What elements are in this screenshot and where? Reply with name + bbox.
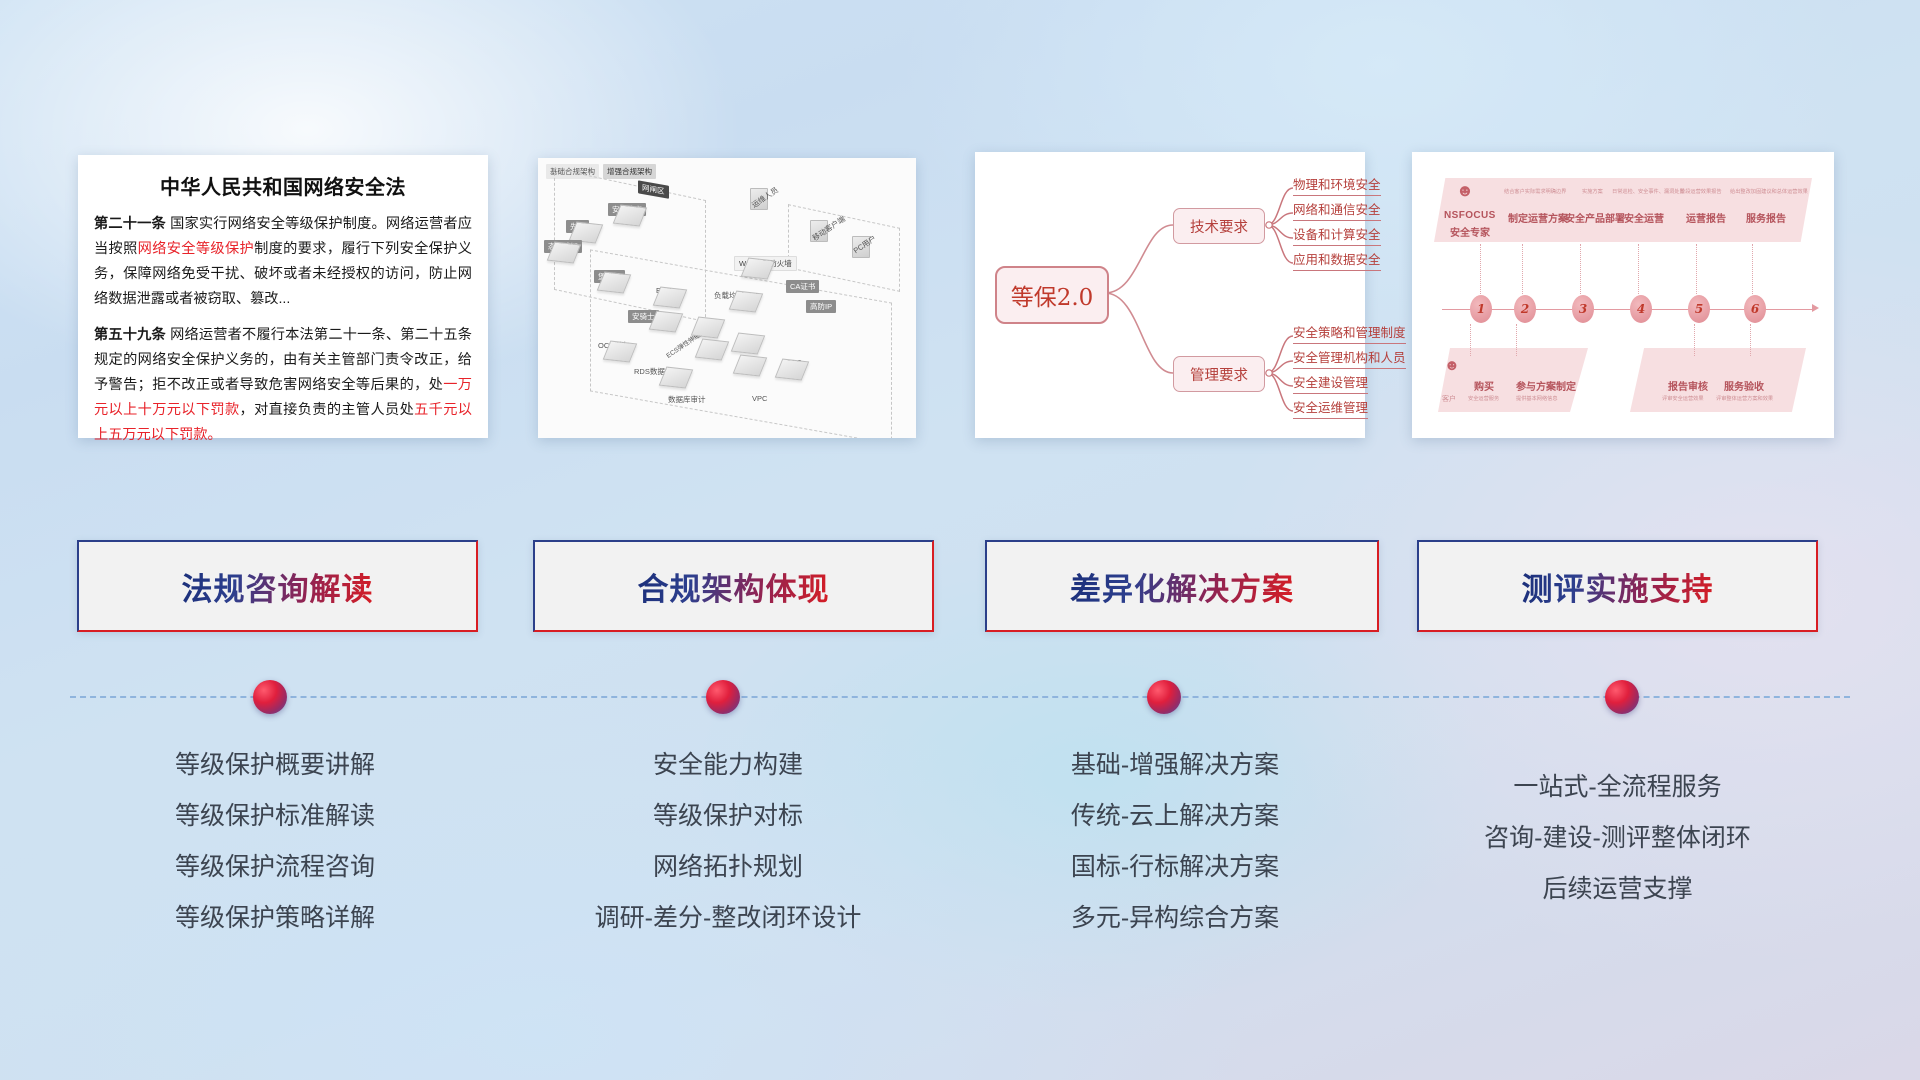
mindmap-branch-technical: 技术要求 [1173,208,1265,244]
timeline-connector-5 [1696,244,1698,294]
list-item: 基础-增强解决方案 [980,740,1370,791]
node-oss: OSS [786,358,806,379]
timeline-marker-4[interactable] [1605,680,1639,714]
mindmap-branch-management: 管理要求 [1173,356,1265,392]
mindmap-leaf-tech-2: 网络和通信安全 [1293,199,1381,221]
bottom-right-step-1-main: 报告审核 [1668,378,1708,393]
timeline-connector-8 [1516,324,1518,356]
list-item: 后续运营支撑 [1420,864,1815,915]
timeline-step-2[interactable]: 2 [1514,295,1536,323]
article-59-label: 第五十九条 [94,327,166,343]
mindmap-leaf-mgmt-1: 安全策略和管理制度 [1293,322,1406,344]
headline-row: 法规咨询解读 合规架构体现 差异化解决方案 测评实施支持 [0,540,1920,640]
list-item: 多元-异构综合方案 [980,893,1370,944]
detail-list-3: 基础-增强解决方案 传统-云上解决方案 国标-行标解决方案 多元-异构综合方案 [980,740,1370,944]
mindmap-leaf-tech-4: 应用和数据安全 [1293,249,1381,271]
mindmap-leaf-tech-1: 物理和环境安全 [1293,174,1381,196]
bottom-right-step-1-sub: 评审安全运营效果 [1662,395,1704,402]
node-anqishi: 安骑士 [628,310,680,331]
timeline-connector-2 [1522,244,1524,294]
node-vpc-label: VPC [752,394,767,403]
customer-person-icon: ☻ [1444,358,1460,373]
timeline-connector-6 [1752,244,1754,294]
tab-enhanced-architecture[interactable]: 增强合规架构 [603,164,656,179]
brand-name: NSFOCUS [1444,210,1496,221]
article-21-label: 第二十一条 [94,216,166,232]
service-timeline-card: ☻ NSFOCUS 安全专家 结合客户实际需求明确边界 制定运营方案 实施方案 … [1412,152,1834,438]
detail-column-3: 基础-增强解决方案 传统-云上解决方案 国标-行标解决方案 多元-异构综合方案 [980,740,1370,944]
node-xianzhi: 先知 [566,220,600,242]
law-article-59: 第五十九条 网络运营者不履行本法第二十一条、第二十五条规定的网络安全保护义务的，… [94,323,472,448]
timeline-connector-4 [1638,244,1640,294]
node-rds-icon [659,367,693,389]
list-item: 国标-行标解决方案 [980,842,1370,893]
timeline-connector-1 [1480,244,1482,294]
node-ocs-cache: OCS缓存 [598,340,634,361]
mindmap-leaf-mgmt-4: 安全运维管理 [1293,397,1368,419]
expert-person-icon: ☻ [1456,182,1474,199]
process-timeline [0,680,1920,720]
law-card-title: 中华人民共和国网络安全法 [78,171,488,200]
detail-list-2: 安全能力构建 等级保护对标 网络拓扑规划 调研-差分-整改闭环设计 [533,740,923,944]
node-situation-awareness-icon [547,242,581,264]
list-item: 等级保护概要讲解 [80,740,470,791]
timeline-step-4[interactable]: 4 [1630,295,1652,323]
timeline-arrow-icon [1812,304,1819,312]
timeline-marker-1[interactable] [253,680,287,714]
node-situation-awareness: 态势感知 [544,240,578,262]
node-ocs-cache-icon [603,341,637,363]
top-step-4-sub: 阶段运营效果报告 [1680,188,1722,195]
architecture-diagram: 基础合规架构 增强合规架构 网闸区 安全管家 先知 态势感知 [538,158,916,438]
timeline-step-1[interactable]: 1 [1470,295,1492,323]
list-item: 一站式-全流程服务 [1420,762,1815,813]
timeline-step-6[interactable]: 6 [1744,295,1766,323]
node-security-butler-icon [613,205,647,227]
list-item: 等级保护标准解读 [80,791,470,842]
bottom-left-step-2-sub: 提供基本网络信息 [1516,395,1558,402]
top-step-2-main: 安全产品部署 [1565,210,1625,225]
timeline-connector-3 [1580,244,1582,294]
detail-list-1: 等级保护概要讲解 等级保护标准解读 等级保护流程咨询 等级保护策略详解 [80,740,470,944]
top-step-3-main: 安全运营 [1624,210,1664,225]
mindmap-leaf-mgmt-3: 安全建设管理 [1293,372,1368,394]
law-card-body: 第二十一条 国家实行网络安全等级保护制度。网络运营者应当按照网络安全等级保护制度… [78,212,488,448]
node-anqishi-icon [649,311,683,333]
node-waf: Web应用防火墙 [734,256,772,278]
detail-columns: 等级保护概要讲解 等级保护标准解读 等级保护流程咨询 等级保护策略详解 安全能力… [0,740,1920,980]
headline-label-4: 测评实施支持 [1522,564,1714,609]
top-step-4-main: 运营报告 [1686,210,1726,225]
headline-box-assessment-support[interactable]: 测评实施支持 [1417,540,1818,632]
node-ecs-icon [653,287,687,309]
list-item: 等级保护流程咨询 [80,842,470,893]
list-item: 等级保护对标 [533,791,923,842]
mindmap-root-node: 等保2.0 [995,266,1109,324]
law-text-card: 中华人民共和国网络安全法 第二十一条 国家实行网络安全等级保护制度。网络运营者应… [78,155,488,438]
node-bastion-host-icon [597,272,631,294]
top-step-1-sub: 结合客户实际需求明确边界 [1504,188,1566,195]
list-item: 等级保护策略详解 [80,893,470,944]
top-step-5-sub: 给出整改加固建议和总体运营效果 [1730,188,1808,195]
headline-label-2: 合规架构体现 [638,564,830,609]
timeline-step-3[interactable]: 3 [1572,295,1594,323]
bottom-left-step-1-main: 购买 [1474,378,1494,393]
timeline-dashed-line [70,696,1850,698]
detail-list-4: 一站式-全流程服务 咨询-建设-测评整体闭环 后续运营支撑 [1420,762,1815,915]
top-step-2-sub: 实施方案 [1582,188,1603,195]
mindmap-leaf-tech-3: 设备和计算安全 [1293,224,1381,246]
top-step-1-main: 制定运营方案 [1508,210,1568,225]
headline-box-differentiated-solution[interactable]: 差异化解决方案 [985,540,1379,632]
timeline-marker-3[interactable] [1147,680,1181,714]
brand-subtitle: 安全专家 [1450,224,1490,239]
detail-column-4: 一站式-全流程服务 咨询-建设-测评整体闭环 后续运营支撑 [1420,762,1815,915]
list-item: 咨询-建设-测评整体闭环 [1420,813,1815,864]
law-article-21: 第二十一条 国家实行网络安全等级保护制度。网络运营者应当按照网络安全等级保护制度… [94,212,472,312]
node-ecs: ECS [656,286,684,307]
mindmap-leaf-mgmt-2: 安全管理机构和人员 [1293,347,1406,369]
timeline-bottom-right-band [1630,348,1806,412]
article-21-highlight: 网络安全等级保护 [138,241,254,257]
node-db-audit-label: 数据库审计 [668,394,706,405]
node-oss-icon [775,359,809,381]
node-ca-cert-label: CA证书 [786,280,819,293]
image-card-row: 中华人民共和国网络安全法 第二十一条 国家实行网络安全等级保护制度。网络运营者应… [0,0,1920,470]
list-item: 网络拓扑规划 [533,842,923,893]
detail-column-2: 安全能力构建 等级保护对标 网络拓扑规划 调研-差分-整改闭环设计 [533,740,923,944]
list-item: 传统-云上解决方案 [980,791,1370,842]
headline-label-3: 差异化解决方案 [1070,564,1294,609]
bottom-left-step-2-main: 参与方案制定 [1516,378,1576,393]
node-anti-ddos-ip-label: 高防IP [806,300,836,313]
headline-box-regulation-consulting[interactable]: 法规咨询解读 [77,540,478,632]
list-item: 调研-差分-整改闭环设计 [533,893,923,944]
service-timeline: ☻ NSFOCUS 安全专家 结合客户实际需求明确边界 制定运营方案 实施方案 … [1412,152,1834,438]
top-step-3-sub: 日常巡检、安全事件、漏洞处置 [1612,188,1685,195]
bottom-right-step-2-main: 服务验收 [1724,378,1764,393]
mindmap: 等保2.0 技术要求 管理要求 物理和环境安全 网络和通信安全 设备和计算安全 … [975,152,1365,438]
bottom-right-step-2-sub: 评审整体运营方案和效果 [1716,395,1773,402]
node-security-butler: 安全管家 [608,203,644,225]
timeline-connector-10 [1750,324,1752,356]
node-waf-icon [741,258,775,280]
node-slb-icon [729,291,763,313]
timeline-connector-7 [1470,324,1472,356]
node-slb: 负载均衡SLB [714,290,760,311]
timeline-marker-2[interactable] [706,680,740,714]
detail-column-1: 等级保护概要讲解 等级保护标准解读 等级保护流程咨询 等级保护策略详解 [80,740,470,944]
headline-box-compliance-architecture[interactable]: 合规架构体现 [533,540,934,632]
node-rds: RDS数据库 [634,366,690,387]
headline-label-1: 法规咨询解读 [182,564,374,609]
node-bastion-host: 堡垒机 [594,270,628,292]
timeline-step-5[interactable]: 5 [1688,295,1710,323]
customer-label: 客户 [1442,394,1456,404]
timeline-connector-9 [1694,324,1696,356]
mindmap-card: 等保2.0 技术要求 管理要求 物理和环境安全 网络和通信安全 设备和计算安全 … [975,152,1365,438]
top-step-5-main: 服务报告 [1746,210,1786,225]
article-59-text-2: ，对直接负责的主管人员处 [240,402,415,418]
list-item: 安全能力构建 [533,740,923,791]
architecture-diagram-card: 基础合规架构 增强合规架构 网闸区 安全管家 先知 态势感知 [538,158,916,438]
bottom-left-step-1-sub: 安全运营服务 [1468,395,1499,402]
